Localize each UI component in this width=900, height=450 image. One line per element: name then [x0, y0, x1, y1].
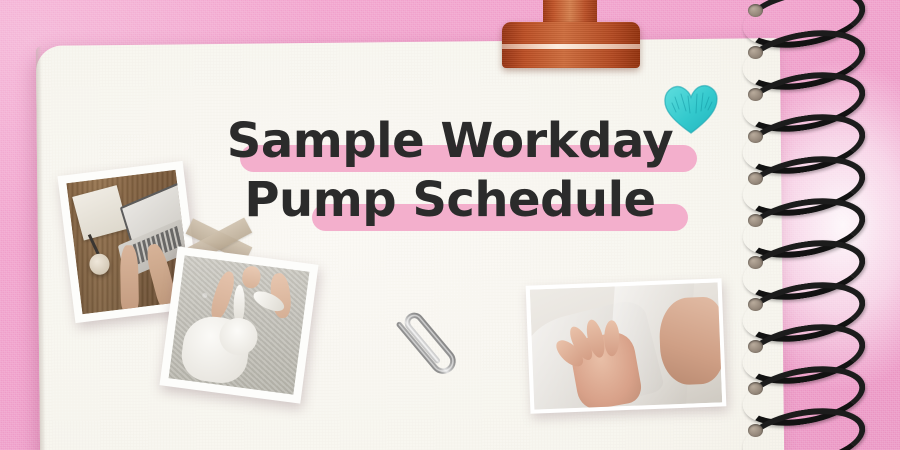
- photo-baby-bunny-image: [168, 255, 309, 394]
- poster-canvas: Sample Workday Pump Schedule: [0, 0, 900, 450]
- punch-hole: [748, 424, 763, 437]
- punch-hole: [748, 88, 763, 101]
- punch-hole: [748, 298, 763, 311]
- punch-hole: [748, 256, 763, 269]
- typing-hand-left: [120, 245, 139, 311]
- page-title-line-1: Sample Workday: [0, 113, 900, 169]
- punch-hole: [748, 340, 763, 353]
- clip-highlight: [502, 44, 640, 49]
- photo-sleeping-baby-hand: [526, 278, 727, 413]
- heart-sticker: [663, 83, 719, 135]
- punch-hole: [748, 4, 763, 17]
- paperclip: [378, 296, 474, 392]
- photo-sleeping-baby-hand-image: [530, 282, 722, 409]
- punch-hole: [748, 46, 763, 59]
- baby-finger: [604, 320, 619, 356]
- punch-hole: [748, 382, 763, 395]
- baby-face: [658, 297, 722, 386]
- photo-baby-bunny: [159, 246, 318, 403]
